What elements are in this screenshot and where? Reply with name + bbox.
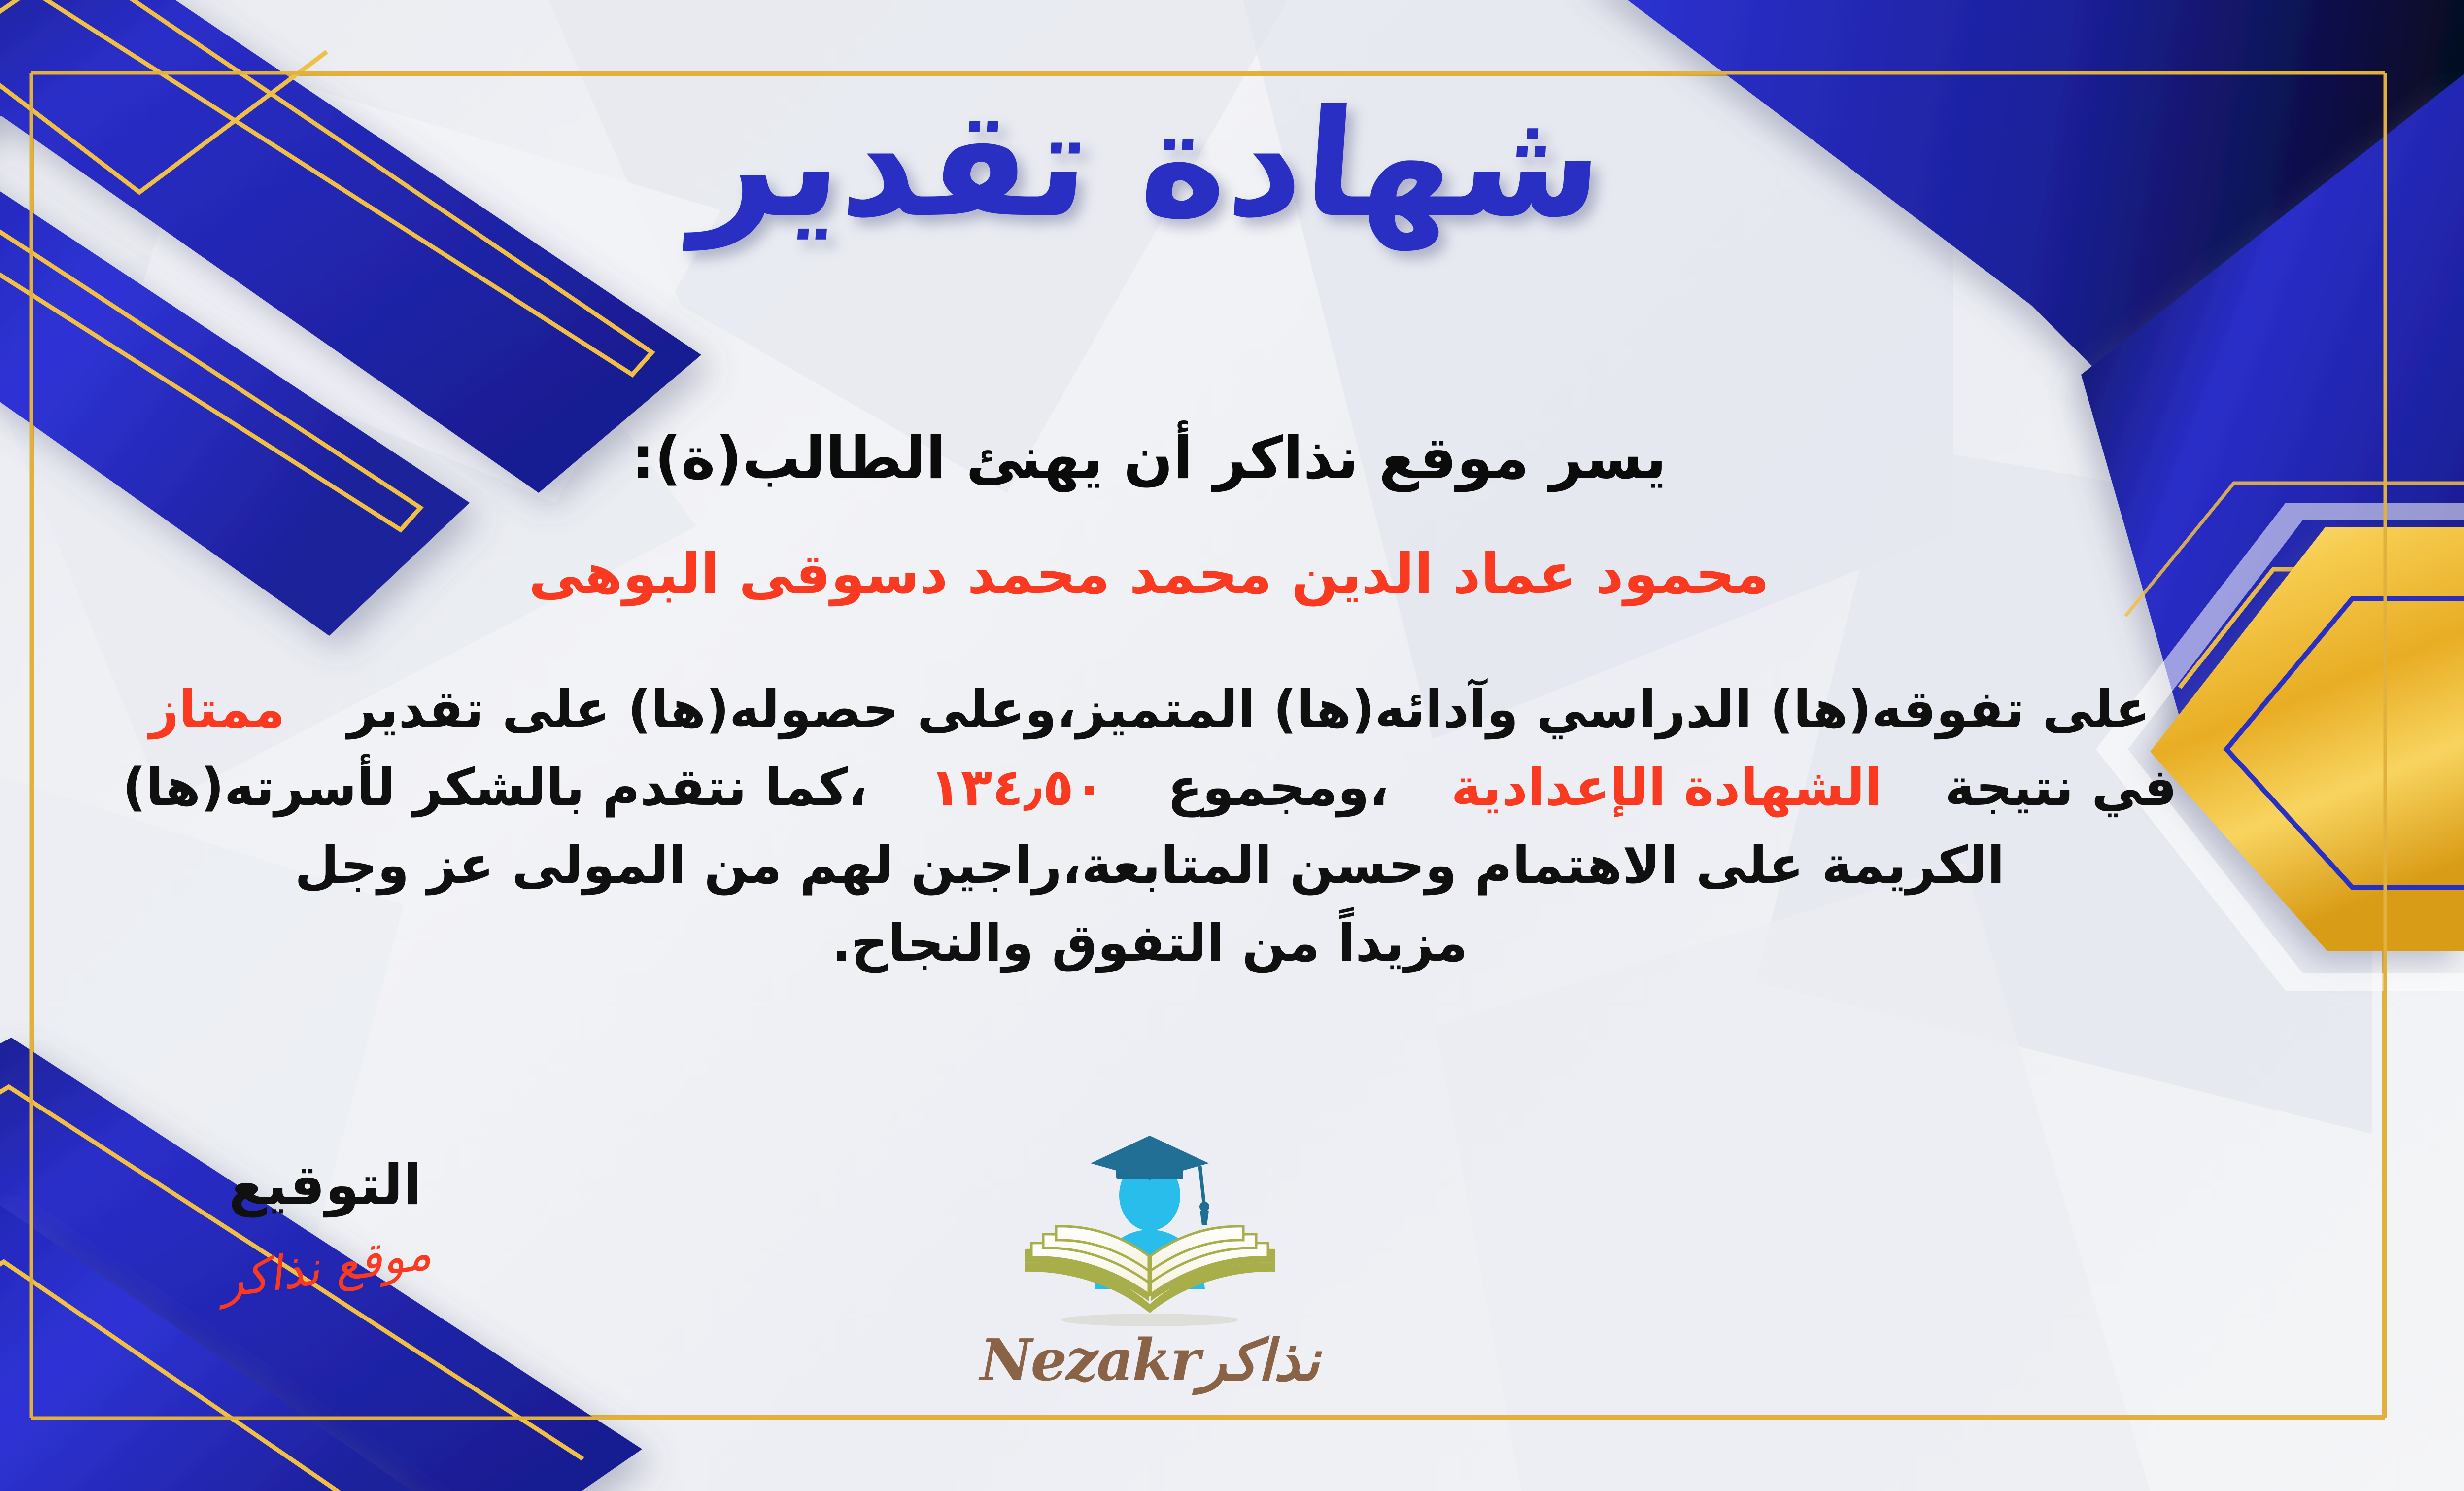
certificate-page: شهادة تقدير يسر موقع نذاكر أن يهنئ الطال… bbox=[0, 0, 2464, 1491]
grade-value: ممتاز bbox=[149, 679, 285, 739]
body-text-in-result: في نتيجة bbox=[1945, 757, 2177, 817]
body-line-3: الكريمة على الاهتمام وحسن المتابعة،راجين… bbox=[0, 826, 2352, 904]
certificate-title-wrap: شهادة تقدير bbox=[0, 79, 2464, 249]
body-text-achievement: على تفوقه(ها) الدراسي وآدائه(ها) المتميز… bbox=[347, 679, 2150, 739]
site-logo: نذاكرNezakr bbox=[977, 1129, 1322, 1394]
signature-block: التوقيع موقع نذاكر bbox=[123, 1153, 527, 1294]
total-score: ١٣٤٫٥٠ bbox=[929, 757, 1105, 817]
salutation-line: يسر موقع نذاكر أن يهنئ الطالب(ة): bbox=[0, 424, 2464, 492]
body-line-4: مزيداً من التفوق والنجاح. bbox=[0, 904, 2352, 982]
body-text-thanks: ،كما نتقدم بالشكر لأسرته(ها) bbox=[123, 757, 868, 817]
logo-latin: Nezakr bbox=[980, 1327, 1199, 1394]
logo-arabic: نذاكر bbox=[1199, 1327, 1320, 1394]
certificate-title: شهادة تقدير bbox=[689, 79, 1608, 249]
graduation-book-logo-icon bbox=[977, 1129, 1322, 1336]
signature-label: التوقيع bbox=[123, 1153, 527, 1217]
logo-wordmark: نذاكرNezakr bbox=[977, 1327, 1322, 1394]
body-line-1: على تفوقه(ها) الدراسي وآدائه(ها) المتميز… bbox=[0, 670, 2352, 748]
body-text-and-total: ،ومجموع bbox=[1167, 757, 1389, 817]
body-line-2: في نتيجة الشهادة الإعدادية ،ومجموع ١٣٤٫٥… bbox=[0, 748, 2352, 826]
certificate-body: على تفوقه(ها) الدراسي وآدائه(ها) المتميز… bbox=[0, 670, 2352, 982]
signature-mark: موقع نذاكر bbox=[216, 1225, 434, 1309]
student-name: محمود عماد الدين محمد محمد دسوقى البوهى bbox=[0, 542, 2464, 606]
exam-name: الشهادة الإعدادية bbox=[1451, 757, 1882, 817]
